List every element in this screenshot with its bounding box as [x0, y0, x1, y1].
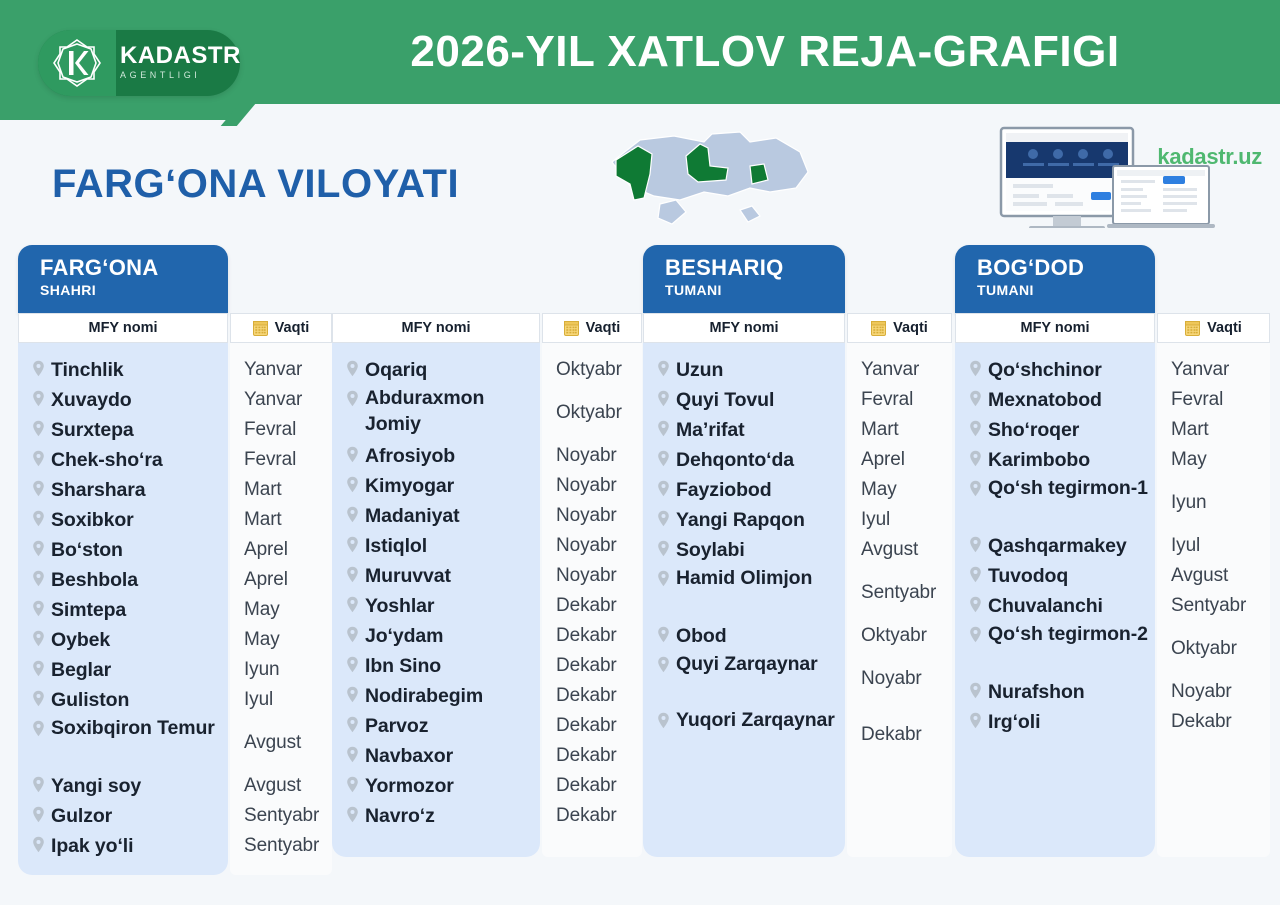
vaqti-row: Avgust	[1157, 561, 1270, 591]
vaqti-row: Noyabr	[542, 441, 642, 471]
vaqti-value: Dekabr	[556, 771, 617, 801]
vaqti-value: Dekabr	[861, 722, 922, 748]
map-pin-icon	[657, 510, 670, 527]
mfy-name: Muruvvat	[365, 561, 451, 591]
mfy-row: Nurafshon	[955, 677, 1155, 707]
mfy-row: Madaniyat	[332, 501, 540, 531]
vaqti-value: May	[1171, 445, 1207, 475]
mfy-name: Navbaxor	[365, 741, 453, 771]
vaqti-value: Iyul	[1171, 531, 1200, 561]
mfy-name-list: Qo‘shchinorMexnatobodSho‘roqerKarimboboQ…	[955, 343, 1155, 857]
mfy-row: Chuvalanchi	[955, 591, 1155, 621]
map-pin-icon	[657, 360, 670, 377]
map-pin-icon	[32, 806, 45, 823]
vaqti-value: Mart	[1171, 415, 1209, 445]
vaqti-value: Dekabr	[556, 711, 617, 741]
map-pin-icon	[657, 626, 670, 643]
mfy-row: Xuvaydo	[18, 385, 228, 415]
vaqti-row: Iyul	[230, 685, 332, 715]
column-header-label: Vaqti	[586, 320, 621, 336]
map-pin-icon	[32, 630, 45, 647]
mfy-name: Qo‘shchinor	[988, 355, 1102, 385]
column-header-mfy-name: MFY nomi	[643, 313, 845, 343]
map-pin-icon	[32, 660, 45, 677]
map-pin-icon	[346, 776, 359, 793]
mfy-row: Sharshara	[18, 475, 228, 505]
mfy-row: Oybek	[18, 625, 228, 655]
vaqti-value: Sentyabr	[1171, 591, 1246, 621]
vaqti-row: Dekabr	[542, 681, 642, 711]
vaqti-value: Dekabr	[556, 621, 617, 651]
vaqti-value: Dekabr	[1171, 707, 1232, 737]
mfy-name: Qo‘sh tegirmon-2	[988, 621, 1148, 647]
vaqti-value: Fevral	[1171, 385, 1223, 415]
district-header-card: BESHARIQTUMANI	[643, 245, 845, 313]
vaqti-row: Fevral	[847, 385, 952, 415]
mfy-row: Surxtepa	[18, 415, 228, 445]
vaqti-row: May	[1157, 445, 1270, 475]
mfy-row: Uzun	[643, 355, 845, 385]
vaqti-value: Yanvar	[861, 355, 919, 385]
vaqti-value: Noyabr	[556, 471, 617, 501]
vaqti-value: Dekabr	[556, 591, 617, 621]
mfy-name: Chek-sho‘ra	[51, 445, 163, 475]
column-header-vaqti: Vaqti	[847, 313, 952, 343]
mfy-row: Navbaxor	[332, 741, 540, 771]
mfy-row: Qo‘sh tegirmon-2	[955, 621, 1155, 677]
vaqti-row: Dekabr	[542, 711, 642, 741]
district-name: BESHARIQ	[665, 255, 845, 281]
logo-title: KADASTR	[120, 44, 241, 68]
map-pin-icon	[346, 536, 359, 553]
column-header-mfy-name: MFY nomi	[18, 313, 228, 343]
vaqti-value: Fevral	[244, 445, 296, 475]
map-pin-icon	[32, 720, 45, 737]
vaqti-row: Dekabr	[542, 621, 642, 651]
calendar-icon	[1185, 320, 1200, 336]
map-pin-icon	[969, 712, 982, 729]
mfy-name-list: TinchlikXuvaydoSurxtepaChek-sho‘raSharsh…	[18, 343, 228, 875]
map-pin-icon	[969, 682, 982, 699]
vaqti-row: Iyul	[1157, 531, 1270, 561]
mfy-row: Soylabi	[643, 535, 845, 565]
vaqti-row: Noyabr	[542, 561, 642, 591]
vaqti-value: May	[244, 625, 280, 655]
mfy-name: Gulzor	[51, 801, 112, 831]
vaqti-row: Noyabr	[542, 471, 642, 501]
page-title: 2026-YIL XATLOV REJA-GRAFIGI	[270, 26, 1260, 78]
column-header-label: MFY nomi	[1020, 320, 1089, 336]
map-pin-icon	[346, 476, 359, 493]
map-pin-icon	[32, 776, 45, 793]
vaqti-value: Aprel	[861, 445, 905, 475]
map-pin-icon	[32, 390, 45, 407]
vaqti-row: Mart	[847, 415, 952, 445]
map-pin-icon	[32, 420, 45, 437]
mfy-row: Parvoz	[332, 711, 540, 741]
mfy-row: Qo‘sh tegirmon-1	[955, 475, 1155, 531]
vaqti-value: Dekabr	[556, 741, 617, 771]
mfy-name: Ipak yo‘li	[51, 831, 133, 861]
map-pin-icon	[32, 570, 45, 587]
mfy-row: Gulzor	[18, 801, 228, 831]
mfy-row: Abduraxmon Jomiy	[332, 385, 540, 441]
mfy-row: Guliston	[18, 685, 228, 715]
mfy-name: Quyi Zarqaynar	[676, 651, 818, 677]
mfy-name-list: OqariqAbduraxmon JomiyAfrosiyobKimyogarM…	[332, 343, 540, 857]
vaqti-row: May	[230, 625, 332, 655]
vaqti-row: Aprel	[230, 535, 332, 565]
vaqti-row: Fevral	[1157, 385, 1270, 415]
district-name: BOG‘DOD	[977, 255, 1155, 281]
vaqti-value: Oktyabr	[556, 400, 622, 426]
calendar-icon	[253, 320, 268, 336]
vaqti-row: Iyul	[847, 505, 952, 535]
vaqti-row: Oktyabr	[542, 355, 642, 385]
map-pin-icon	[969, 360, 982, 377]
mfy-name: Surxtepa	[51, 415, 134, 445]
mfy-name: Karimbobo	[988, 445, 1090, 475]
vaqti-row: Iyun	[1157, 475, 1270, 531]
map-pin-icon	[346, 506, 359, 523]
map-pin-icon	[969, 596, 982, 613]
map-pin-icon	[657, 450, 670, 467]
district-header-card: FARG‘ONASHAHRI	[18, 245, 228, 313]
mfy-name: Tinchlik	[51, 355, 124, 385]
vaqti-value: Iyul	[861, 505, 890, 535]
vaqti-value: Yanvar	[1171, 355, 1229, 385]
vaqti-row: Mart	[1157, 415, 1270, 445]
map-pin-icon	[346, 716, 359, 733]
map-pin-icon	[657, 712, 670, 729]
mfy-row: Quyi Tovul	[643, 385, 845, 415]
mfy-row: Tinchlik	[18, 355, 228, 385]
vaqti-row: Avgust	[230, 715, 332, 771]
vaqti-row: Oktyabr	[542, 385, 642, 441]
mfy-name: Xuvaydo	[51, 385, 132, 415]
map-pin-icon	[346, 656, 359, 673]
vaqti-value: May	[861, 475, 897, 505]
map-pin-icon	[32, 450, 45, 467]
mfy-name: Mexnatobod	[988, 385, 1102, 415]
map-pin-icon	[657, 540, 670, 557]
vaqti-value: Oktyabr	[556, 355, 622, 385]
vaqti-row: Dekabr	[542, 741, 642, 771]
map-pin-icon	[969, 536, 982, 553]
vaqti-value: Oktyabr	[861, 621, 927, 651]
mfy-name: Yormozor	[365, 771, 454, 801]
column-header-vaqti: Vaqti	[542, 313, 642, 343]
region-title: FARG‘ONA VILOYATI	[52, 160, 459, 208]
map-pin-icon	[969, 420, 982, 437]
vaqti-value: Noyabr	[556, 441, 617, 471]
column-header-label: Vaqti	[1207, 320, 1242, 336]
map-pin-icon	[32, 690, 45, 707]
vaqti-row: Oktyabr	[1157, 621, 1270, 677]
mfy-name: Beshbola	[51, 565, 138, 595]
vaqti-value: Iyun	[1171, 490, 1207, 516]
desktop-laptop-mockup-icon	[995, 122, 1220, 228]
mfy-row: Beglar	[18, 655, 228, 685]
map-pin-icon	[32, 510, 45, 527]
vaqti-row: Sentyabr	[1157, 591, 1270, 621]
mfy-row: Yoshlar	[332, 591, 540, 621]
calendar-icon	[564, 320, 579, 336]
mfy-row: Muruvvat	[332, 561, 540, 591]
vaqti-row: Dekabr	[542, 771, 642, 801]
promo-label: kadastr.uz	[1157, 144, 1262, 170]
map-pin-icon	[346, 806, 359, 823]
mfy-name: Kimyogar	[365, 471, 454, 501]
vaqti-row: Avgust	[230, 771, 332, 801]
map-pin-icon	[346, 686, 359, 703]
vaqti-value: Mart	[861, 415, 899, 445]
map-pin-icon	[969, 480, 982, 497]
vaqti-list: YanvarFevralMartMayIyunIyulAvgustSentyab…	[1157, 343, 1270, 857]
vaqti-value: Mart	[244, 475, 282, 505]
map-pin-icon	[346, 566, 359, 583]
mfy-name: Qo‘sh tegirmon-1	[988, 475, 1148, 501]
mfy-name: Bo‘ston	[51, 535, 123, 565]
map-pin-icon	[657, 570, 670, 587]
map-pin-icon	[657, 420, 670, 437]
mfy-row: Istiqlol	[332, 531, 540, 561]
vaqti-row: Aprel	[230, 565, 332, 595]
vaqti-list: YanvarFevralMartAprelMayIyulAvgustSentya…	[847, 343, 952, 857]
vaqti-value: Iyun	[244, 655, 280, 685]
mfy-name: Nurafshon	[988, 677, 1085, 707]
mfy-row: Qo‘shchinor	[955, 355, 1155, 385]
mfy-name: Obod	[676, 621, 727, 651]
vaqti-value: Avgust	[861, 535, 918, 565]
vaqti-value: Aprel	[244, 565, 288, 595]
vaqti-row: Sentyabr	[230, 831, 332, 861]
vaqti-value: Oktyabr	[1171, 636, 1237, 662]
vaqti-value: Sentyabr	[244, 801, 319, 831]
mfy-name: Soxibqiron Temur	[51, 715, 215, 741]
vaqti-row: Noyabr	[542, 531, 642, 561]
map-pin-icon	[32, 600, 45, 617]
map-pin-icon	[346, 446, 359, 463]
mfy-name: Abduraxmon Jomiy	[365, 385, 540, 437]
mfy-name: Soxibkor	[51, 505, 134, 535]
column-header-mfy-name: MFY nomi	[955, 313, 1155, 343]
mfy-name: Ibn Sino	[365, 651, 441, 681]
mfy-name: Tuvodoq	[988, 561, 1068, 591]
mfy-name: Guliston	[51, 685, 129, 715]
mfy-name: Parvoz	[365, 711, 428, 741]
map-pin-icon	[346, 626, 359, 643]
district-name: FARG‘ONA	[40, 255, 228, 281]
mfy-row: Obod	[643, 621, 845, 651]
vaqti-row: Aprel	[847, 445, 952, 475]
mfy-name: Yuqori Zarqaynar	[676, 707, 835, 733]
mfy-name: Oqariq	[365, 355, 427, 385]
mfy-name: Chuvalanchi	[988, 591, 1103, 621]
mfy-row: Soxibkor	[18, 505, 228, 535]
vaqti-value: Noyabr	[556, 561, 617, 591]
vaqti-value: Dekabr	[556, 681, 617, 711]
column-header-label: MFY nomi	[709, 320, 778, 336]
kadastr-monogram-icon	[38, 30, 116, 96]
mfy-row: Ma’rifat	[643, 415, 845, 445]
mfy-name: Uzun	[676, 355, 723, 385]
vaqti-row: Yanvar	[1157, 355, 1270, 385]
mfy-row: Bo‘ston	[18, 535, 228, 565]
mfy-name: Soylabi	[676, 535, 745, 565]
mfy-row: Sho‘roqer	[955, 415, 1155, 445]
vaqti-row: Dekabr	[1157, 707, 1270, 737]
vaqti-row: Fevral	[230, 415, 332, 445]
vaqti-value: Fevral	[244, 415, 296, 445]
mfy-row: Nodirabegim	[332, 681, 540, 711]
mfy-name: Madaniyat	[365, 501, 459, 531]
map-pin-icon	[32, 480, 45, 497]
vaqti-value: Noyabr	[861, 666, 922, 692]
vaqti-list: OktyabrOktyabrNoyabrNoyabrNoyabrNoyabrNo…	[542, 343, 642, 857]
mfy-name: Yangi Rapqon	[676, 505, 805, 535]
mfy-name: Dehqonto‘da	[676, 445, 794, 475]
mfy-row: Yangi Rapqon	[643, 505, 845, 535]
map-pin-icon	[657, 656, 670, 673]
vaqti-row: Mart	[230, 475, 332, 505]
vaqti-value: Noyabr	[1171, 677, 1232, 707]
vaqti-value: Yanvar	[244, 355, 302, 385]
map-pin-icon	[32, 836, 45, 853]
mfy-name-list: UzunQuyi TovulMa’rifatDehqonto‘daFayziob…	[643, 343, 845, 857]
mfy-row: Beshbola	[18, 565, 228, 595]
vaqti-row: Yanvar	[230, 355, 332, 385]
district-subtitle: TUMANI	[977, 281, 1155, 299]
vaqti-value: Sentyabr	[861, 580, 936, 606]
mfy-row: Quyi Zarqaynar	[643, 651, 845, 707]
mfy-row: Fayziobod	[643, 475, 845, 505]
page-header: KADASTR AGENTLIGI 2026-YIL XATLOV REJA-G…	[0, 0, 1280, 104]
column-header-label: MFY nomi	[88, 320, 157, 336]
mfy-row: Karimbobo	[955, 445, 1155, 475]
vaqti-row: Dekabr	[542, 651, 642, 681]
vaqti-row: Noyabr	[1157, 677, 1270, 707]
vaqti-value: Avgust	[244, 730, 301, 756]
mfy-row: Navro‘z	[332, 801, 540, 831]
vaqti-value: Mart	[244, 505, 282, 535]
vaqti-row: Yanvar	[847, 355, 952, 385]
map-pin-icon	[657, 480, 670, 497]
schedule-board: FARG‘ONASHAHRIMFY nomiVaqtiTinchlikXuvay…	[0, 245, 1280, 905]
mfy-name: Quyi Tovul	[676, 385, 774, 415]
column-header-label: Vaqti	[893, 320, 928, 336]
vaqti-value: Sentyabr	[244, 831, 319, 861]
district-header-card: BOG‘DODTUMANI	[955, 245, 1155, 313]
mfy-name: Ma’rifat	[676, 415, 745, 445]
vaqti-value: Avgust	[1171, 561, 1228, 591]
vaqti-value: Dekabr	[556, 801, 617, 831]
mfy-name: Nodirabegim	[365, 681, 483, 711]
vaqti-row: Mart	[230, 505, 332, 535]
logo-subtitle: AGENTLIGI	[120, 69, 241, 82]
mfy-row: Mexnatobod	[955, 385, 1155, 415]
map-pin-icon	[969, 626, 982, 643]
vaqti-value: May	[244, 595, 280, 625]
district-subtitle: TUMANI	[665, 281, 845, 299]
district-subtitle: SHAHRI	[40, 281, 228, 299]
map-pin-icon	[346, 360, 359, 377]
column-header-label: MFY nomi	[401, 320, 470, 336]
mfy-row: Chek-sho‘ra	[18, 445, 228, 475]
vaqti-row: Fevral	[230, 445, 332, 475]
mfy-name: Yangi soy	[51, 771, 141, 801]
mfy-name: Fayziobod	[676, 475, 772, 505]
vaqti-row: Sentyabr	[847, 565, 952, 621]
vaqti-row: May	[230, 595, 332, 625]
vaqti-row: Noyabr	[542, 501, 642, 531]
mfy-name: Irg‘oli	[988, 707, 1040, 737]
mfy-name: Hamid Olimjon	[676, 565, 812, 591]
vaqti-value: Noyabr	[556, 531, 617, 561]
vaqti-value: Dekabr	[556, 651, 617, 681]
vaqti-row: Dekabr	[847, 707, 952, 763]
mfy-name: Oybek	[51, 625, 110, 655]
mfy-row: Jo‘ydam	[332, 621, 540, 651]
mfy-name: Istiqlol	[365, 531, 427, 561]
vaqti-value: Yanvar	[244, 385, 302, 415]
map-pin-icon	[969, 566, 982, 583]
mfy-row: Tuvodoq	[955, 561, 1155, 591]
mfy-row: Irg‘oli	[955, 707, 1155, 737]
mfy-row: Kimyogar	[332, 471, 540, 501]
mfy-name: Afrosiyob	[365, 441, 455, 471]
vaqti-row: Yanvar	[230, 385, 332, 415]
mfy-name: Jo‘ydam	[365, 621, 443, 651]
mfy-row: Hamid Olimjon	[643, 565, 845, 621]
vaqti-row: Dekabr	[542, 591, 642, 621]
vaqti-value: Avgust	[244, 771, 301, 801]
vaqti-row: Sentyabr	[230, 801, 332, 831]
mfy-name: Beglar	[51, 655, 111, 685]
mfy-row: Yuqori Zarqaynar	[643, 707, 845, 763]
map-pin-icon	[346, 390, 359, 407]
vaqti-list: YanvarYanvarFevralFevralMartMartAprelApr…	[230, 343, 332, 875]
mfy-name: Simtepa	[51, 595, 126, 625]
vaqti-row: Avgust	[847, 535, 952, 565]
vaqti-row: Dekabr	[542, 801, 642, 831]
column-header-label: Vaqti	[275, 320, 310, 336]
mfy-row: Afrosiyob	[332, 441, 540, 471]
map-pin-icon	[657, 390, 670, 407]
vaqti-row: Iyun	[230, 655, 332, 685]
mfy-row: Dehqonto‘da	[643, 445, 845, 475]
column-header-vaqti: Vaqti	[230, 313, 332, 343]
mfy-row: Oqariq	[332, 355, 540, 385]
mfy-name: Yoshlar	[365, 591, 434, 621]
mfy-row: Soxibqiron Temur	[18, 715, 228, 771]
column-header-vaqti: Vaqti	[1157, 313, 1270, 343]
vaqti-value: Aprel	[244, 535, 288, 565]
map-pin-icon	[969, 450, 982, 467]
column-header-mfy-name: MFY nomi	[332, 313, 540, 343]
mfy-name: Sharshara	[51, 475, 146, 505]
mfy-row: Qashqarmakey	[955, 531, 1155, 561]
vaqti-row: Oktyabr	[847, 621, 952, 651]
calendar-icon	[871, 320, 886, 336]
mfy-name: Qashqarmakey	[988, 531, 1127, 561]
map-pin-icon	[346, 746, 359, 763]
mfy-name: Navro‘z	[365, 801, 435, 831]
vaqti-row: Noyabr	[847, 651, 952, 707]
map-pin-icon	[32, 360, 45, 377]
mfy-row: Ipak yo‘li	[18, 831, 228, 861]
mfy-row: Yormozor	[332, 771, 540, 801]
